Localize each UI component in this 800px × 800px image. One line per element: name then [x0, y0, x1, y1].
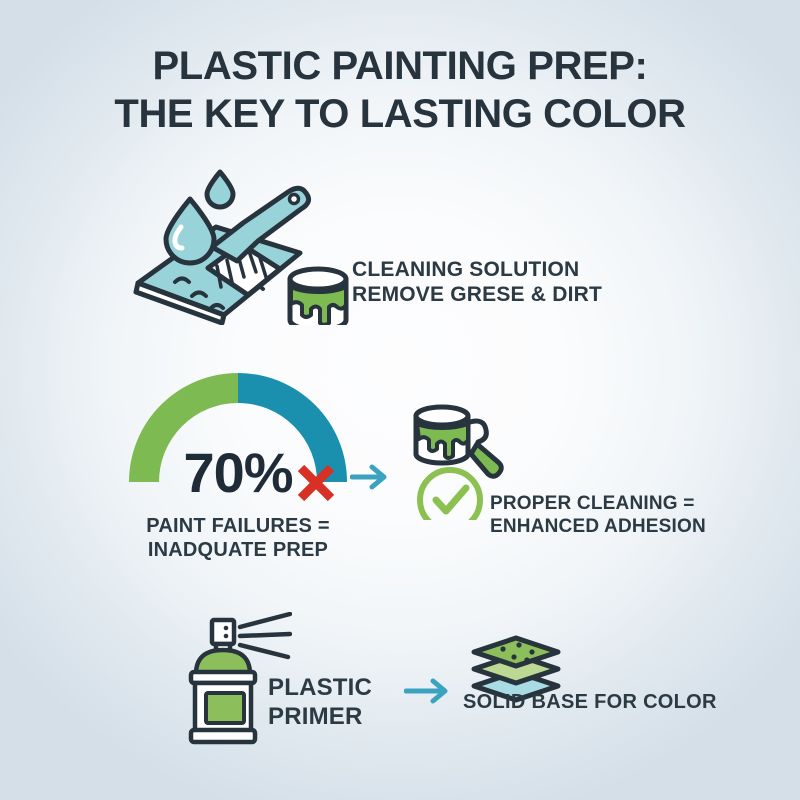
stat-caption-line-2: INADQUATE PREP: [128, 538, 348, 562]
layers-label: SOLID BASE FOR COLOR: [463, 690, 717, 714]
cleaning-brush-droplets-paintcan-icon: [128, 165, 358, 330]
arrow-right-icon: [350, 460, 394, 499]
section-stat: 70% PAINT FAILURES = INADQUATE PREP: [0, 358, 800, 588]
x-mark-icon: [293, 460, 339, 511]
primer-label-line-2: PRIMER: [268, 703, 372, 732]
primer-label-line-1: PLASTIC: [268, 674, 372, 703]
adhesion-label-line-2: ENHANCED ADHESION: [490, 516, 706, 539]
section-cleaning: CLEANING SOLUTION REMOVE GRESE & DIRT: [0, 165, 800, 335]
cleaning-label-line-1: CLEANING SOLUTION: [352, 257, 602, 282]
primer-label: PLASTIC PRIMER: [268, 674, 372, 732]
infographic-canvas: PLASTIC PAINTING PREP: THE KEY TO LASTIN…: [0, 0, 800, 800]
page-title-line-2: THE KEY TO LASTING COLOR: [0, 90, 800, 138]
section-primer: PLASTIC PRIMER: [0, 612, 800, 762]
stat-caption-line-1: PAINT FAILURES =: [128, 514, 348, 538]
adhesion-label-line-1: PROPER CLEANING =: [490, 493, 706, 516]
page-title: PLASTIC PAINTING PREP: THE KEY TO LASTIN…: [0, 42, 800, 138]
stat-caption: PAINT FAILURES = INADQUATE PREP: [128, 514, 348, 562]
cleaning-label-line-2: REMOVE GRESE & DIRT: [352, 282, 602, 307]
page-title-line-1: PLASTIC PAINTING PREP:: [0, 42, 800, 90]
adhesion-label: PROPER CLEANING = ENHANCED ADHESION: [490, 493, 706, 539]
cleaning-label: CLEANING SOLUTION REMOVE GRESE & DIRT: [352, 257, 602, 307]
arrow-right-icon: [404, 674, 456, 713]
